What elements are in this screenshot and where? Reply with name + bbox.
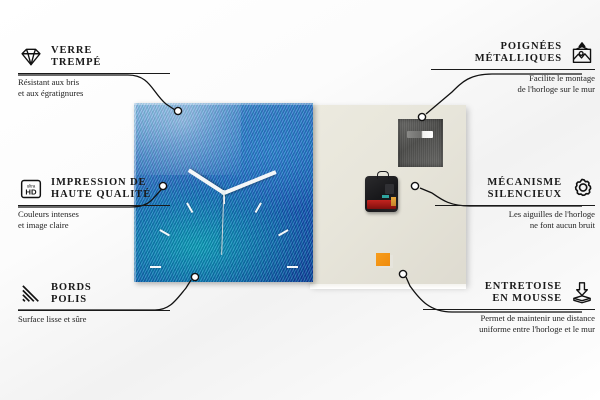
callout-divider [423,309,595,310]
minute-hand [223,170,276,195]
callout-description: Les aiguilles de l'horloge ne font aucun… [435,209,595,230]
callout-title: BORDS POLIS [51,282,92,307]
movement-hook [377,171,389,179]
infographic-canvas: VERRE TREMPÉ Résistant aux bris et aux é… [0,0,600,400]
hour-tick [254,202,261,213]
callout-title: IMPRESSION DE HAUTE QUALITÉ [51,177,151,202]
callout-title: VERRE TREMPÉ [51,45,101,70]
hour-tick [278,229,289,236]
callout-divider [18,205,170,206]
callout-description: Facilite le montage de l'horloge sur le … [431,73,595,94]
picture-hanger-icon [569,40,595,66]
callout-title: POIGNÉES MÉTALLIQUES [475,41,562,66]
callout-mecanisme-silencieux: MÉCANISME SILENCIEUX Les aiguilles de l'… [435,176,595,230]
callout-impression-haute-qualite: ultra HD IMPRESSION DE HAUTE QUALITÉ Cou… [18,176,170,230]
product-photo [134,103,466,285]
hour-tick [186,202,193,213]
hour-tick [150,266,161,268]
callout-description: Couleurs intenses et image claire [18,209,170,230]
callout-title: ENTRETOISE EN MOUSSE [485,281,562,306]
callout-title: MÉCANISME SILENCIEUX [487,177,562,202]
callout-description: Résistant aux bris et aux égratignures [18,77,170,98]
callout-divider [18,310,170,311]
polished-edge-icon [18,281,44,307]
diamond-icon [18,44,44,70]
callout-header: MÉCANISME SILENCIEUX [435,176,595,202]
hour-tick [287,266,298,268]
svg-text:HD: HD [25,188,37,197]
callout-description: Permet de maintenir une distance uniform… [423,313,595,334]
ultra-hd-icon: ultra HD [18,176,44,202]
callout-header: ultra HD IMPRESSION DE HAUTE QUALITÉ [18,176,170,202]
hour-hand [187,168,224,194]
clock-hub [221,190,226,195]
callout-verre-trempe: VERRE TREMPÉ Résistant aux bris et aux é… [18,44,170,98]
battery-terminal [391,197,396,206]
clock-movement [365,176,398,212]
callout-divider [18,73,170,74]
callout-divider [435,205,595,206]
callout-poignees-metalliques: POIGNÉES MÉTALLIQUES Facilite le montage… [431,40,595,94]
foam-spacer [376,253,390,266]
callout-header: POIGNÉES MÉTALLIQUES [431,40,595,66]
movement-detail [385,184,394,194]
second-hand [221,192,224,254]
callout-header: ENTRETOISE EN MOUSSE [423,280,595,306]
callout-description: Surface lisse et sûre [18,314,170,325]
callout-divider [431,69,595,70]
layers-down-arrow-icon [569,280,595,306]
gear-icon [569,176,595,202]
battery [367,200,396,209]
callout-bords-polis: BORDS POLIS Surface lisse et sûre [18,281,170,325]
hanger-plate [398,119,443,167]
callout-header: VERRE TREMPÉ [18,44,170,70]
movement-marking [382,195,389,198]
callout-header: BORDS POLIS [18,281,170,307]
callout-entretoise-en-mousse: ENTRETOISE EN MOUSSE Permet de maintenir… [423,280,595,334]
hanger-slot [407,131,433,138]
